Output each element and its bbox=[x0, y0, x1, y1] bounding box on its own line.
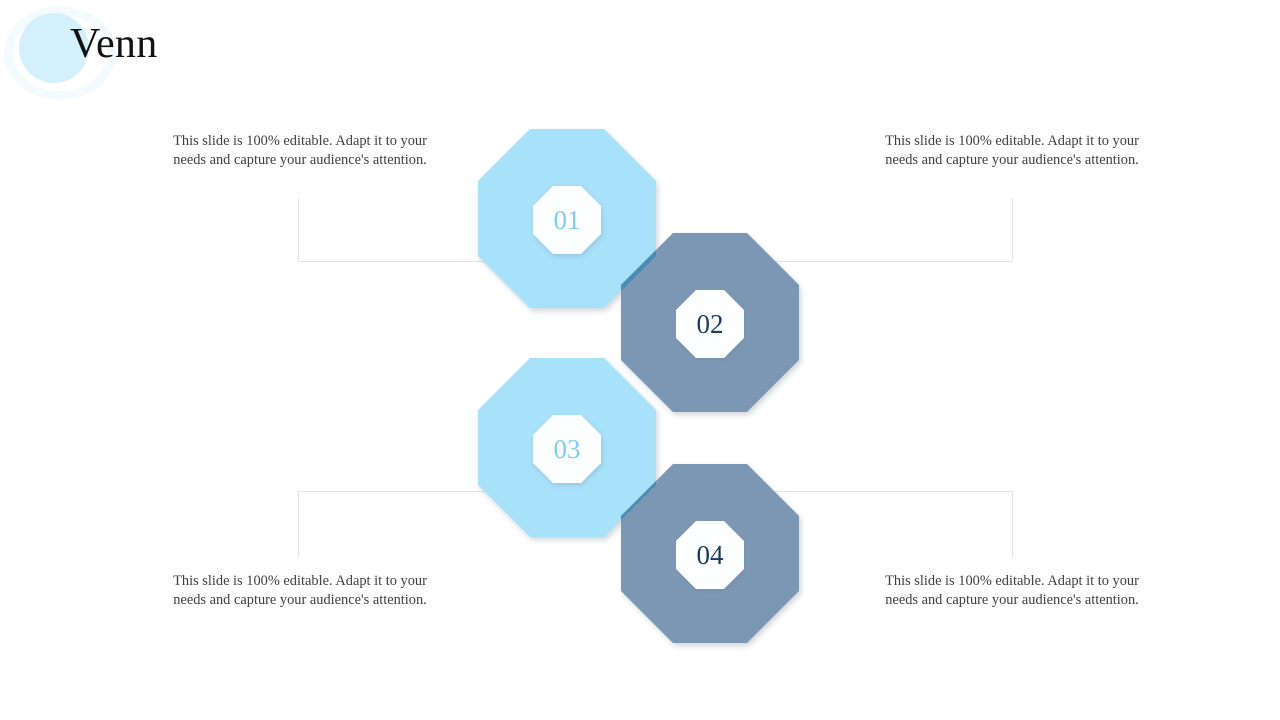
octagon-number-01: 01 bbox=[507, 207, 627, 234]
octagon-number-02: 02 bbox=[650, 311, 770, 338]
description-text-04: This slide is 100% editable. Adapt it to… bbox=[868, 572, 1156, 609]
description-text-02: This slide is 100% editable. Adapt it to… bbox=[868, 132, 1156, 169]
venn-diagram: 01 02 03 04 bbox=[0, 0, 1280, 720]
octagon-number-03: 03 bbox=[507, 436, 627, 463]
description-text-01: This slide is 100% editable. Adapt it to… bbox=[156, 132, 444, 169]
octagon-number-04: 04 bbox=[650, 542, 770, 569]
description-text-03: This slide is 100% editable. Adapt it to… bbox=[156, 572, 444, 609]
venn-svg bbox=[0, 0, 1280, 720]
slide-canvas: Venn bbox=[0, 0, 1280, 720]
